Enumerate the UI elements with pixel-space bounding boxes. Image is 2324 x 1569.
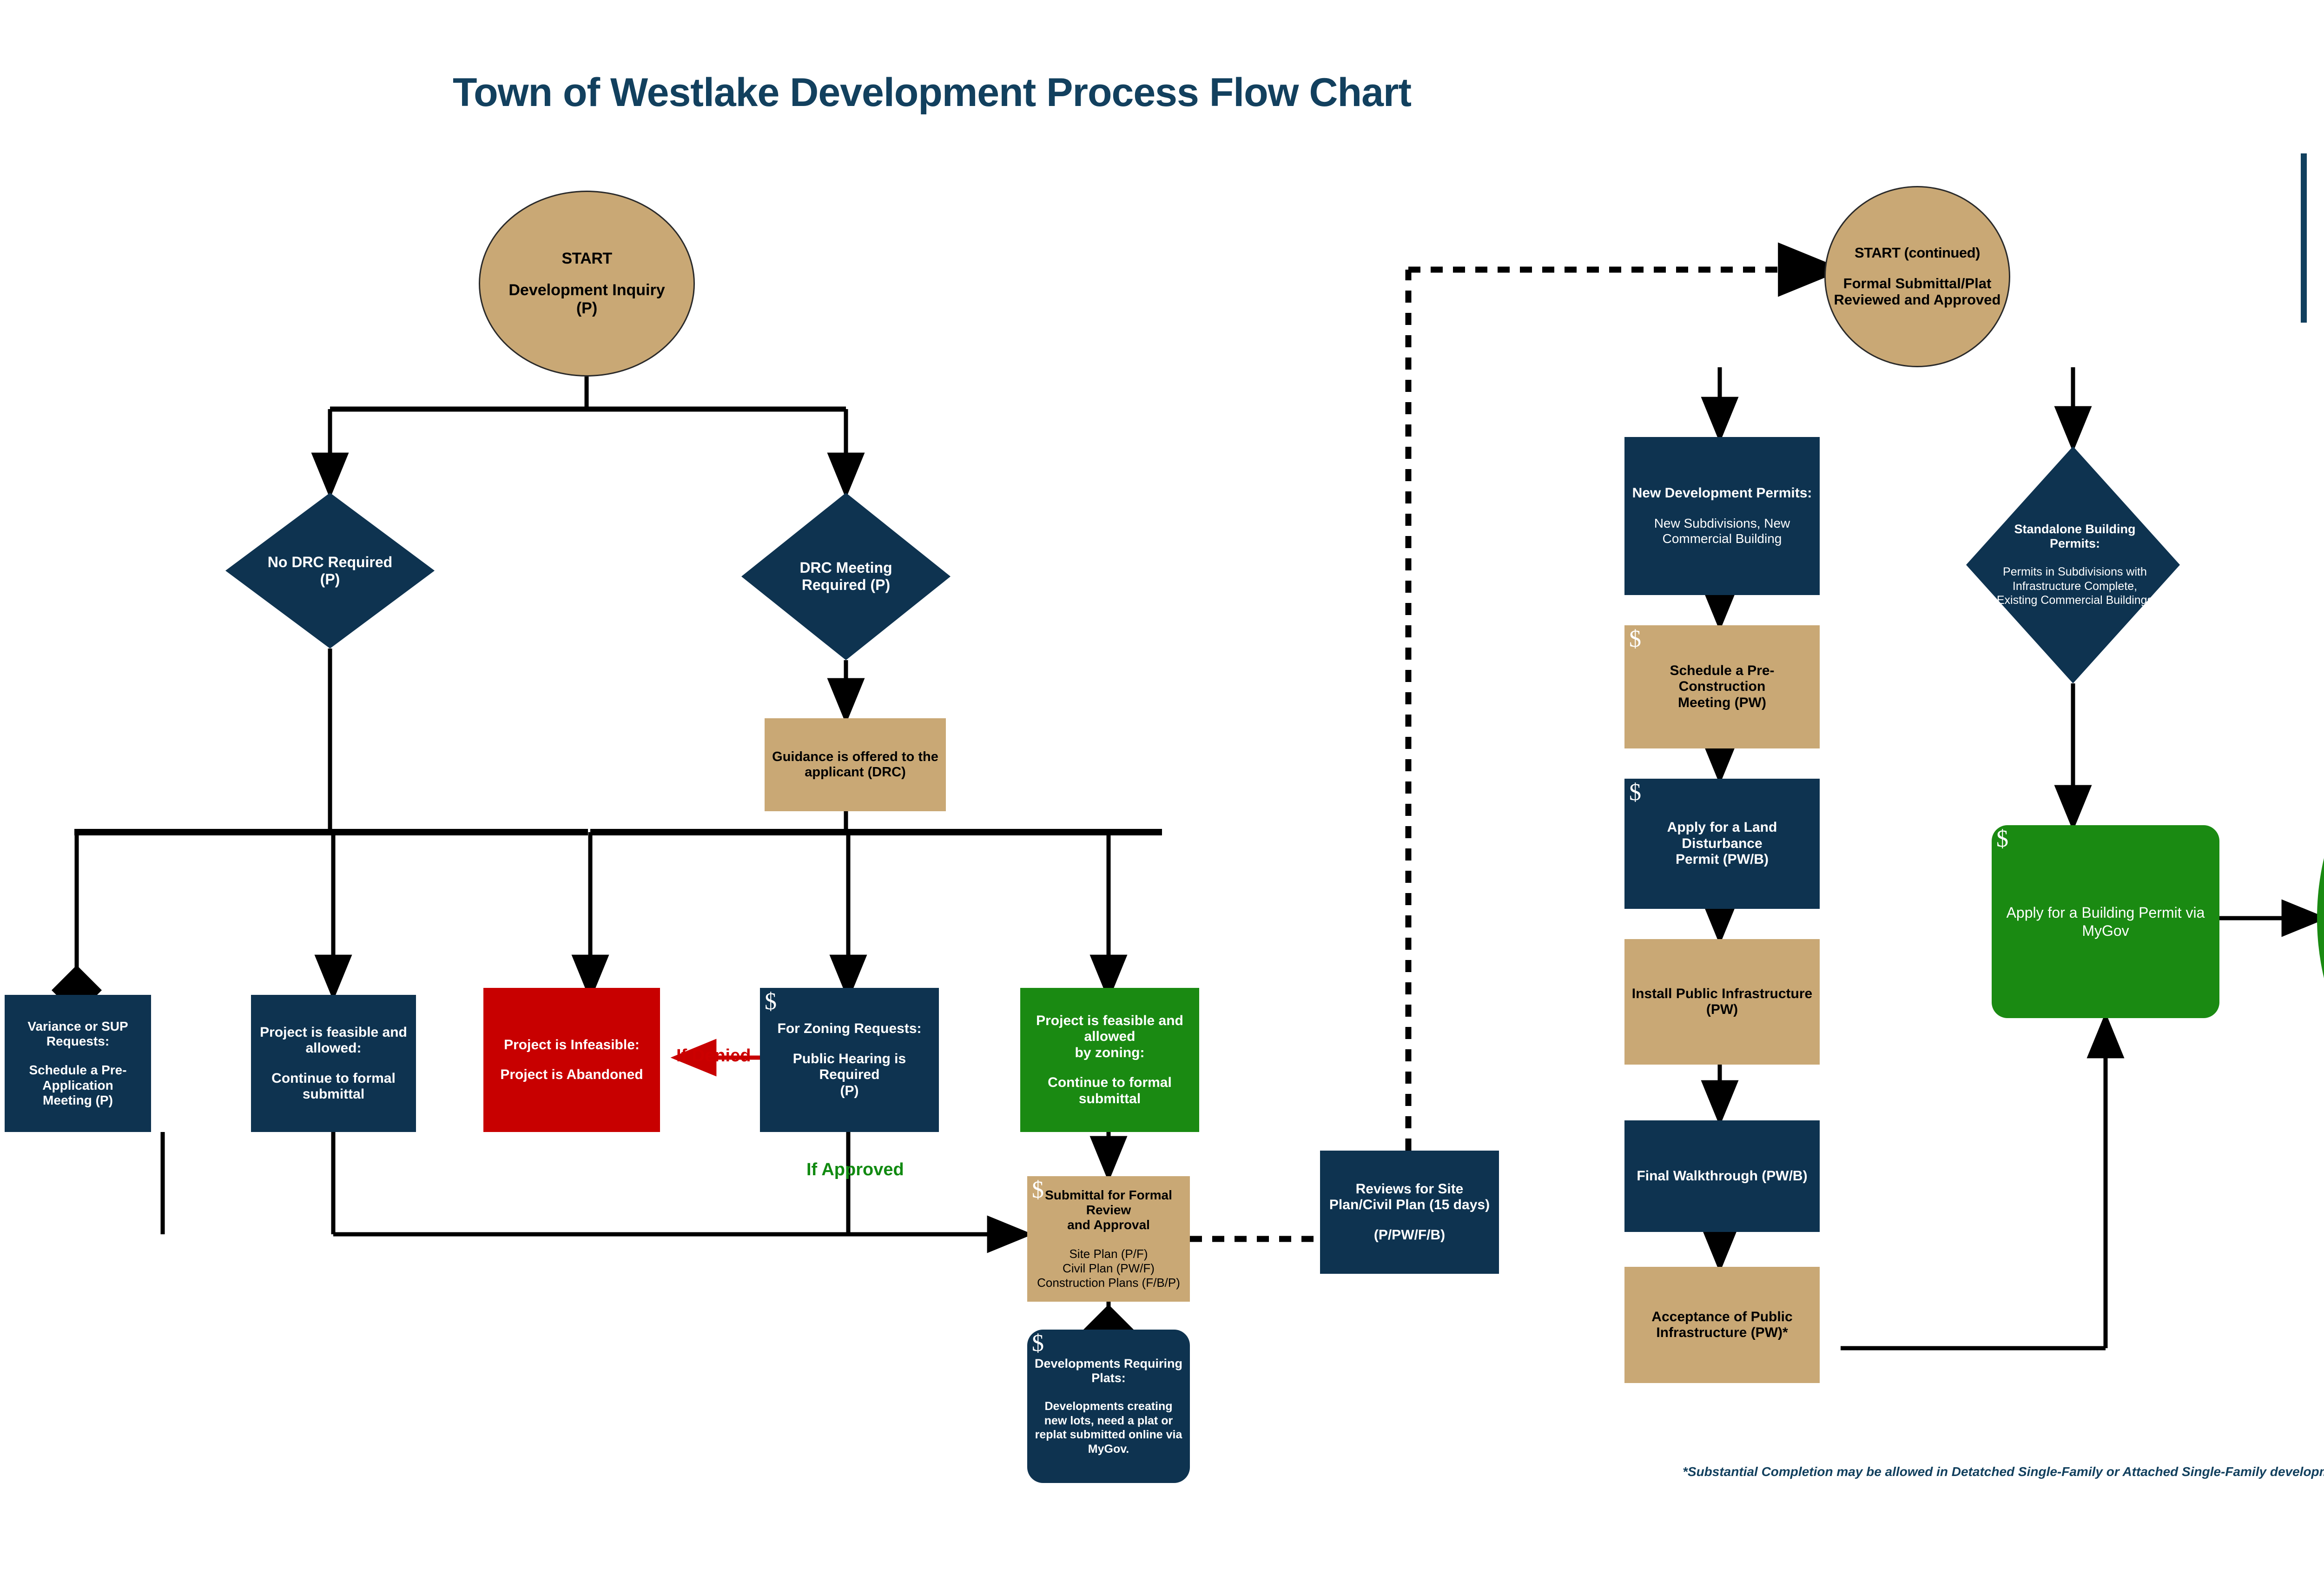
node-zoning-title: For Zoning Requests: xyxy=(778,1021,922,1037)
fee-icon: $ xyxy=(1996,827,2008,851)
node-install-infra-label: Install Public Infrastructure (PW) xyxy=(1632,986,1812,1018)
fee-icon: $ xyxy=(765,990,777,1014)
node-submittal: $ Submittal for Formal Review and Approv… xyxy=(1027,1176,1190,1302)
node-acceptance: Acceptance of Public Infrastructure (PW)… xyxy=(1624,1267,1820,1383)
node-new-dev-permits-title: New Development Permits: xyxy=(1632,485,1812,502)
node-final-walkthrough-label: Final Walkthrough (PW/B) xyxy=(1637,1168,1807,1185)
node-feasible-allowed-body: Continue to formal submittal xyxy=(271,1071,396,1103)
node-plats-title: Developments Requiring Plats: xyxy=(1033,1357,1184,1385)
node-apply-building-permit-label: Apply for a Building Permit via MyGov xyxy=(2007,904,2205,940)
node-land-disturbance-label: Apply for a Land Disturbance Permit (PW/… xyxy=(1631,820,1813,868)
fee-icon: $ xyxy=(1032,1331,1044,1356)
legend-item-4: (DRC) = Development Review Committee xyxy=(2310,292,2324,315)
node-zoning: $ For Zoning Requests: Public Hearing is… xyxy=(760,988,939,1132)
node-no-drc-label: No DRC Required (P) xyxy=(251,493,409,649)
building-permit-steps: Submit all required documentsPay Plan Re… xyxy=(2322,838,2324,1036)
node-preconstruction-label: Schedule a Pre-Construction Meeting (PW) xyxy=(1631,663,1813,711)
node-variance-body: Schedule a Pre-Application Meeting (P) xyxy=(9,1063,146,1108)
node-reviews-body: (P/PW/F/B) xyxy=(1374,1227,1445,1244)
node-variance-title: Variance or SUP Requests: xyxy=(9,1019,146,1049)
node-start-continued-body: Formal Submittal/Plat Reviewed and Appro… xyxy=(1834,275,2001,308)
node-feasible-zoning-title: Project is feasible and allowed by zonin… xyxy=(1026,1013,1194,1061)
legend-item-0: (P) = Planning xyxy=(2310,201,2324,224)
node-plats: $ Developments Requiring Plats: Developm… xyxy=(1027,1330,1190,1483)
node-submittal-title: Submittal for Formal Review and Approval xyxy=(1033,1188,1184,1233)
node-feasible-zoning-body: Continue to formal submittal xyxy=(1026,1075,1194,1107)
node-reviews-title: Reviews for Site Plan/Civil Plan (15 day… xyxy=(1327,1181,1492,1213)
node-infeasible: Project is Infeasible: Project is Abando… xyxy=(483,988,660,1132)
node-reviews: Reviews for Site Plan/Civil Plan (15 day… xyxy=(1320,1151,1499,1274)
node-guidance-label: Guidance is offered to the applicant (DR… xyxy=(772,749,938,781)
fee-icon: $ xyxy=(1629,781,1641,805)
node-plats-body: Developments creating new lots, need a p… xyxy=(1033,1399,1184,1456)
node-apply-building-permit: $ Apply for a Building Permit via MyGov xyxy=(1992,825,2219,1018)
node-infeasible-body: Project is Abandoned xyxy=(500,1067,643,1083)
node-variance: Variance or SUP Requests: Schedule a Pre… xyxy=(5,995,151,1132)
node-standalone-body: Permits in Subdivisions with Infrastruct… xyxy=(1997,565,2153,608)
node-standalone-text: Standalone Building Permits: Permits in … xyxy=(1992,446,2158,683)
flowchart-canvas: Town of Westlake Development Process Flo… xyxy=(0,0,2324,1569)
node-submittal-body: Site Plan (P/F) Civil Plan (PW/F) Constr… xyxy=(1037,1247,1180,1291)
node-preconstruction: $ Schedule a Pre-Construction Meeting (P… xyxy=(1624,625,1820,748)
node-drc-required: DRC Meeting Required (P) xyxy=(741,493,951,660)
node-new-dev-permits: New Development Permits: New Subdivision… xyxy=(1624,437,1820,595)
node-zoning-body: Public Hearing is Required (P) xyxy=(766,1051,932,1099)
edge-label-if-denied: If Denied xyxy=(676,1046,751,1066)
node-install-infra: Install Public Infrastructure (PW) xyxy=(1624,939,1820,1065)
legend-items: (P) = Planning(PW) = Public Works(F) = F… xyxy=(2310,201,2324,314)
node-start-continued: START (continued) Formal Submittal/Plat … xyxy=(1824,186,2010,367)
legend-reviewing-body: Reviewing Body (P) = Planning(PW) = Publ… xyxy=(2301,153,2324,323)
fee-icon: $ xyxy=(1629,627,1641,651)
node-acceptance-label: Acceptance of Public Infrastructure (PW)… xyxy=(1651,1309,1792,1341)
legend-item-3: (B) = Building Inspections xyxy=(2310,269,2324,292)
node-feasible-allowed-title: Project is feasible and allowed: xyxy=(260,1025,407,1057)
legend-item-1: (PW) = Public Works xyxy=(2310,224,2324,247)
fee-icon: $ xyxy=(1032,1178,1044,1202)
node-start-body: Development Inquiry (P) xyxy=(508,281,665,318)
edge-label-if-approved: If Approved xyxy=(806,1160,904,1180)
legend-item-2: (F) = Fire xyxy=(2310,246,2324,269)
node-no-drc: No DRC Required (P) xyxy=(225,493,435,649)
node-infeasible-title: Project is Infeasible: xyxy=(504,1037,640,1053)
node-land-disturbance: $ Apply for a Land Disturbance Permit (P… xyxy=(1624,779,1820,909)
node-drc-required-label: DRC Meeting Required (P) xyxy=(766,493,925,660)
legend-heading: Reviewing Body xyxy=(2310,160,2324,184)
node-standalone-permits: Standalone Building Permits: Permits in … xyxy=(1966,446,2180,683)
node-feasible-zoning: Project is feasible and allowed by zonin… xyxy=(1020,988,1199,1132)
node-standalone-title: Standalone Building Permits: xyxy=(2014,522,2135,551)
node-new-dev-permits-body: New Subdivisions, New Commercial Buildin… xyxy=(1654,516,1790,547)
node-final-walkthrough: Final Walkthrough (PW/B) xyxy=(1624,1120,1820,1232)
node-start-continued-title: START (continued) xyxy=(1855,245,1980,261)
node-start-title: START xyxy=(561,250,612,267)
node-guidance: Guidance is offered to the applicant (DR… xyxy=(765,718,946,811)
node-start: START Development Inquiry (P) xyxy=(479,191,695,377)
node-feasible-allowed: Project is feasible and allowed: Continu… xyxy=(251,995,416,1132)
footnote: *Substantial Completion may be allowed i… xyxy=(1683,1464,2324,1479)
